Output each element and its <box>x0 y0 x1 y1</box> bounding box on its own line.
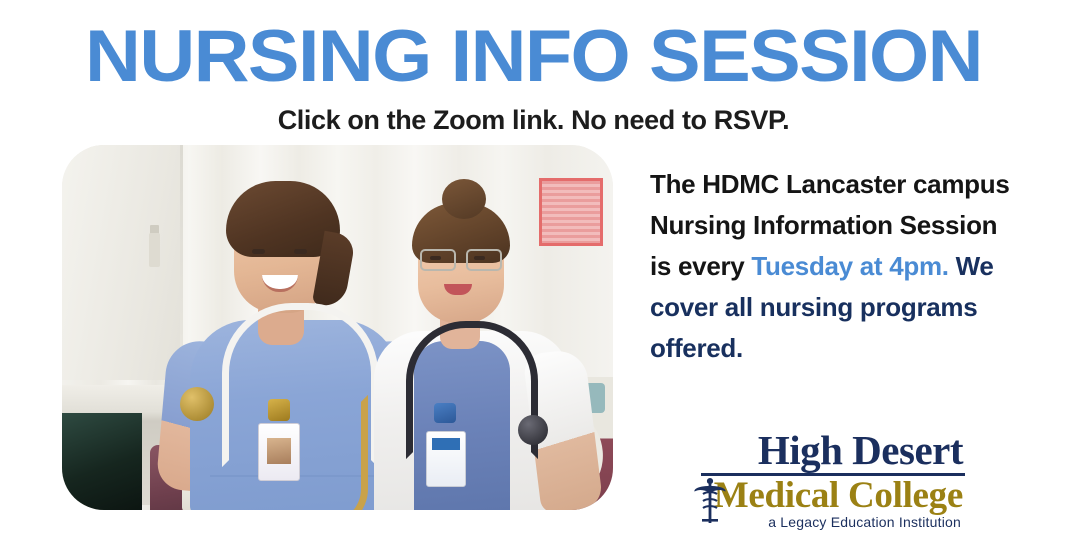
nursing-students-photo <box>62 145 613 510</box>
high-desert-medical-college-logo: High Desert Medical College a <box>693 430 965 530</box>
session-description: The HDMC Lancaster campus Nursing Inform… <box>650 164 1020 369</box>
student-left-eye-right <box>294 249 307 254</box>
stethoscope-gold-bell <box>180 387 214 421</box>
logo-bottom-row: Medical College <box>693 476 965 520</box>
student-left-eye-left <box>252 249 265 254</box>
subtitle-instruction: Click on the Zoom link. No need to RSVP. <box>0 104 1067 136</box>
student-right-hair-bun <box>442 179 486 219</box>
student-left-badge-reel <box>268 399 290 421</box>
student-left-id-badge <box>258 423 300 481</box>
student-right-eye-right <box>474 256 485 260</box>
student-right-badge-reel <box>434 403 456 423</box>
logo-line-medical-college: Medical College <box>693 476 965 516</box>
page-title: NURSING INFO SESSION <box>0 18 1067 96</box>
flyer-canvas: NURSING INFO SESSION Click on the Zoom l… <box>0 0 1067 557</box>
student-right-eye-left <box>430 256 441 260</box>
session-time-highlight: Tuesday at 4pm. <box>751 251 948 281</box>
background-red-sign <box>539 178 603 246</box>
student-left-hair <box>226 181 340 257</box>
caduceus-icon <box>693 474 727 526</box>
student-right-id-badge <box>426 431 466 487</box>
background-wall-panel <box>62 145 182 380</box>
logo-line-high-desert: High Desert <box>693 430 965 471</box>
stethoscope-black-bell <box>518 415 548 445</box>
background-dark-equipment <box>62 413 142 510</box>
photo-scene <box>62 145 613 510</box>
